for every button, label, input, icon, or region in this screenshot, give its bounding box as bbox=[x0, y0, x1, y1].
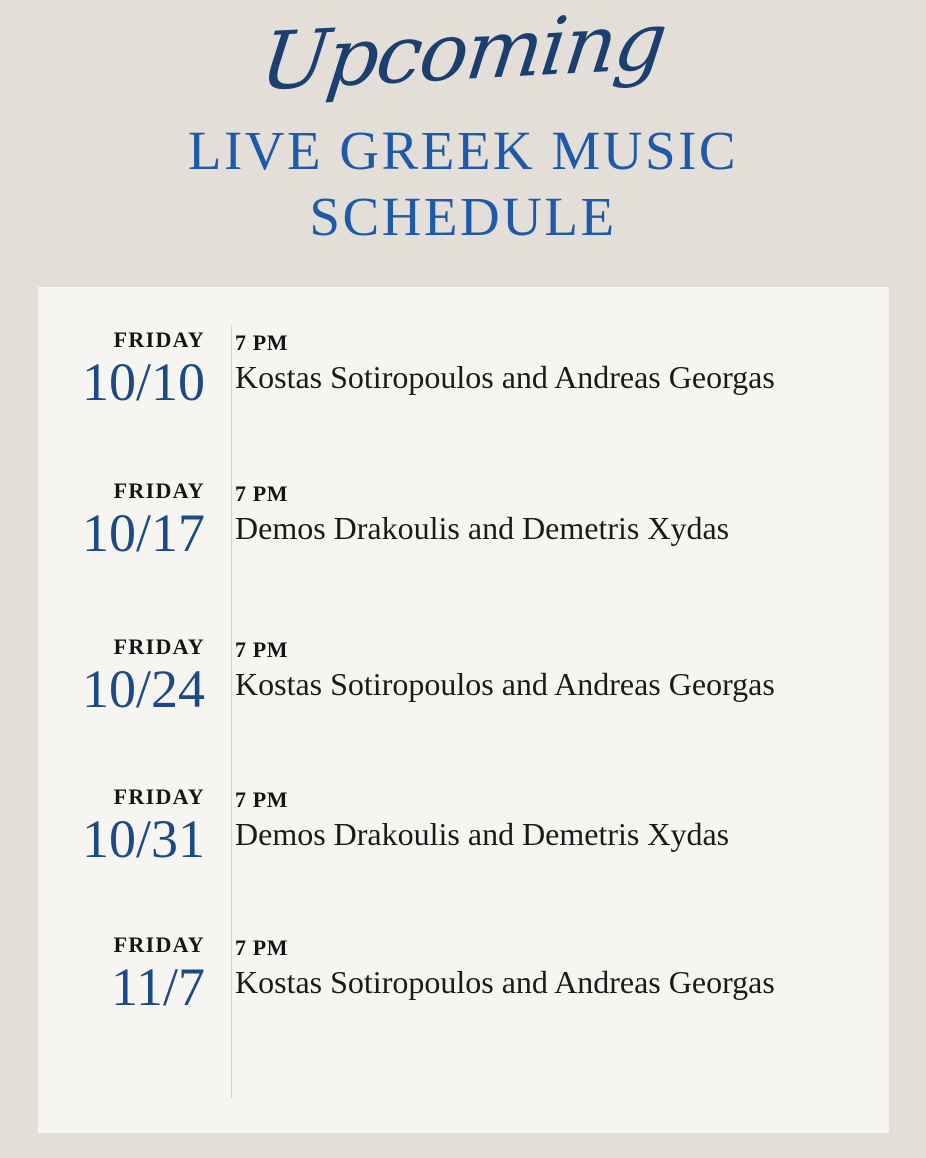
date-value: 10/10 bbox=[38, 353, 205, 411]
performers-label: Kostas Sotiropoulos and Andreas Georgas bbox=[235, 962, 790, 1003]
title-line-2: SCHEDULE bbox=[0, 184, 926, 250]
time-label: 7 PM bbox=[235, 329, 889, 357]
time-label: 7 PM bbox=[235, 480, 889, 508]
performers-label: Kostas Sotiropoulos and Andreas Georgas bbox=[235, 357, 790, 398]
event-column: 7 PM Kostas Sotiropoulos and Andreas Geo… bbox=[218, 327, 889, 398]
performers-label: Demos Drakoulis and Demetris Xydas bbox=[235, 814, 790, 855]
weekday-label: FRIDAY bbox=[38, 478, 205, 504]
poster-canvas: Upcoming LIVE GREEK MUSIC SCHEDULE FRIDA… bbox=[0, 0, 926, 1158]
weekday-label: FRIDAY bbox=[38, 634, 205, 660]
script-heading-upcoming: Upcoming bbox=[0, 0, 926, 116]
date-column: FRIDAY 11/7 bbox=[38, 932, 218, 1016]
date-value: 10/31 bbox=[38, 810, 205, 868]
weekday-label: FRIDAY bbox=[38, 784, 205, 810]
performers-label: Demos Drakoulis and Demetris Xydas bbox=[235, 508, 790, 549]
schedule-row: FRIDAY 10/24 7 PM Kostas Sotiropoulos an… bbox=[38, 634, 889, 718]
date-value: 11/7 bbox=[38, 958, 205, 1016]
time-label: 7 PM bbox=[235, 934, 889, 962]
title-line-1: LIVE GREEK MUSIC bbox=[0, 118, 926, 184]
date-column: FRIDAY 10/17 bbox=[38, 478, 218, 562]
weekday-label: FRIDAY bbox=[38, 932, 205, 958]
event-column: 7 PM Kostas Sotiropoulos and Andreas Geo… bbox=[218, 634, 889, 705]
event-column: 7 PM Demos Drakoulis and Demetris Xydas bbox=[218, 478, 889, 549]
date-value: 10/24 bbox=[38, 660, 205, 718]
date-column: FRIDAY 10/31 bbox=[38, 784, 218, 868]
page-title: LIVE GREEK MUSIC SCHEDULE bbox=[0, 118, 926, 250]
date-column: FRIDAY 10/24 bbox=[38, 634, 218, 718]
event-column: 7 PM Kostas Sotiropoulos and Andreas Geo… bbox=[218, 932, 889, 1003]
schedule-row: FRIDAY 10/17 7 PM Demos Drakoulis and De… bbox=[38, 478, 889, 562]
event-column: 7 PM Demos Drakoulis and Demetris Xydas bbox=[218, 784, 889, 855]
weekday-label: FRIDAY bbox=[38, 327, 205, 353]
date-column: FRIDAY 10/10 bbox=[38, 327, 218, 411]
date-value: 10/17 bbox=[38, 504, 205, 562]
performers-label: Kostas Sotiropoulos and Andreas Georgas bbox=[235, 664, 790, 705]
schedule-card: FRIDAY 10/10 7 PM Kostas Sotiropoulos an… bbox=[38, 287, 889, 1133]
schedule-row: FRIDAY 10/10 7 PM Kostas Sotiropoulos an… bbox=[38, 327, 889, 411]
schedule-row: FRIDAY 10/31 7 PM Demos Drakoulis and De… bbox=[38, 784, 889, 868]
time-label: 7 PM bbox=[235, 786, 889, 814]
schedule-row: FRIDAY 11/7 7 PM Kostas Sotiropoulos and… bbox=[38, 932, 889, 1016]
time-label: 7 PM bbox=[235, 636, 889, 664]
